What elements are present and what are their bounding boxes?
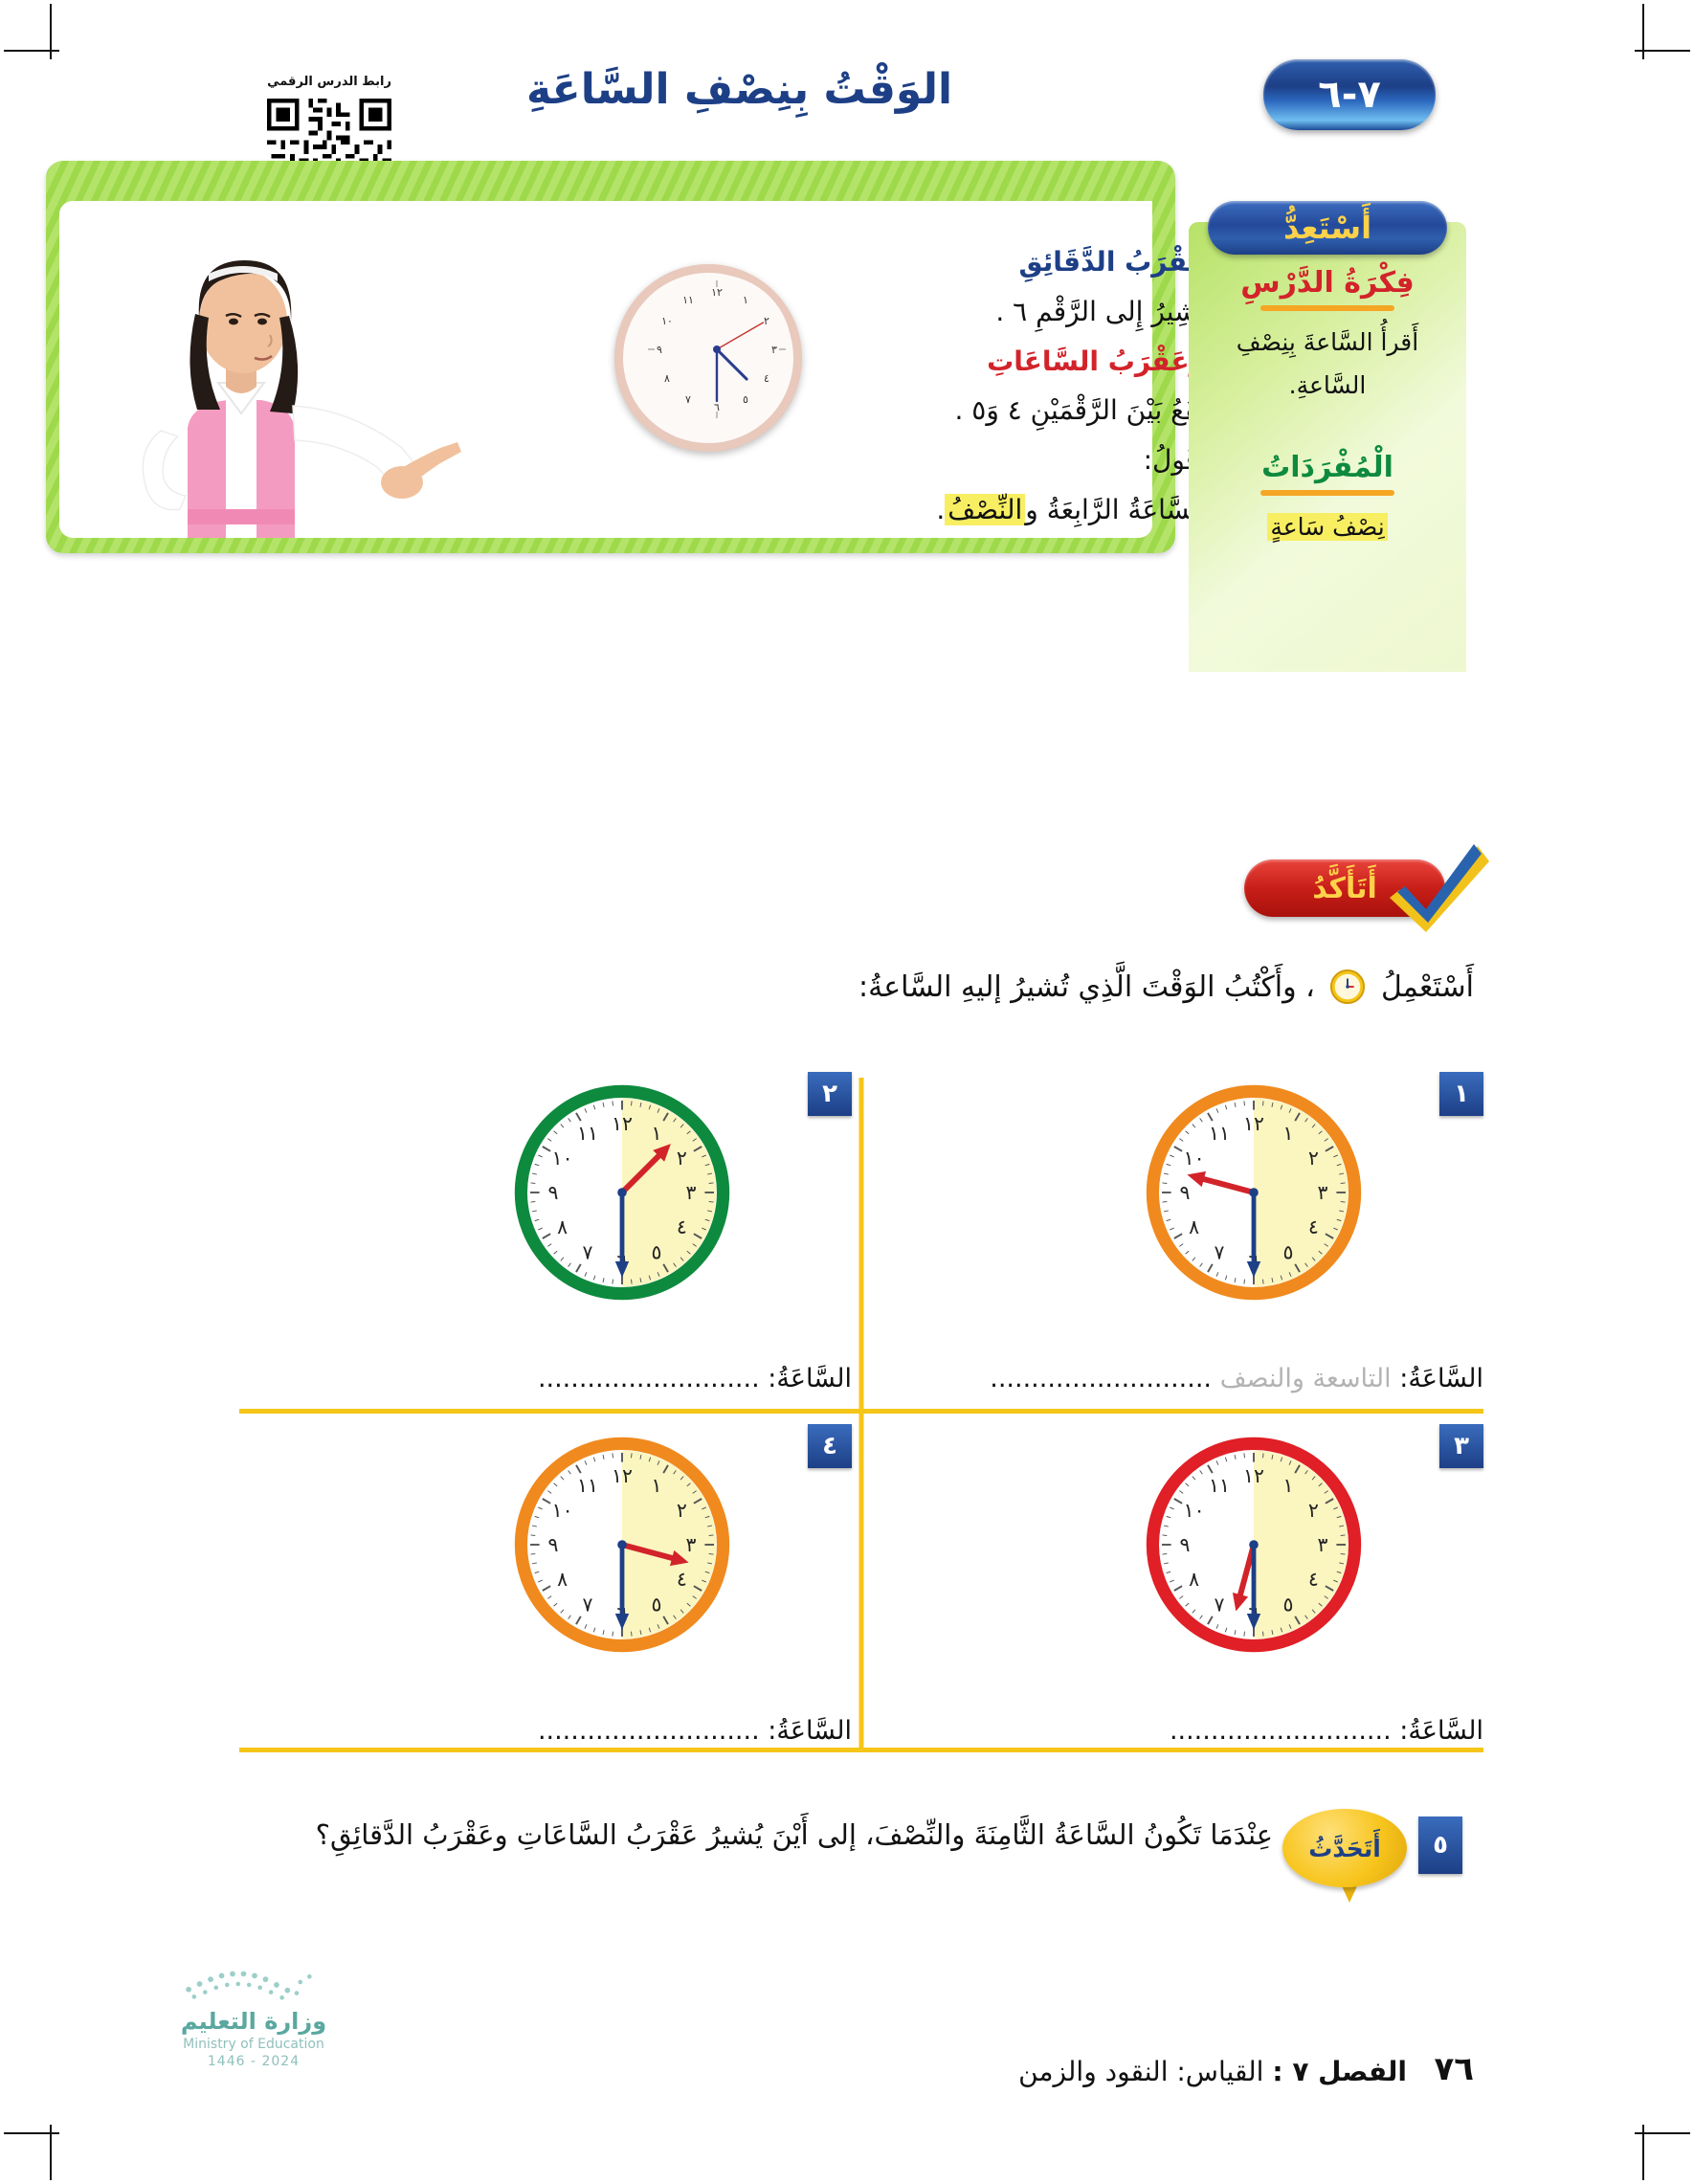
- svg-text:٥: ٥: [1283, 1241, 1294, 1264]
- svg-text:١٠: ١٠: [1184, 1499, 1205, 1522]
- answer-dots-1: ...........................: [990, 1364, 1212, 1393]
- svg-text:١٠: ١٠: [552, 1499, 573, 1522]
- svg-text:٢: ٢: [1308, 1147, 1319, 1170]
- svg-text:١٢: ١٢: [612, 1464, 633, 1487]
- intro-line-6-b: .: [936, 494, 945, 525]
- svg-text:٥: ٥: [652, 1241, 662, 1264]
- ministry-name-en: Ministry of Education: [144, 2037, 364, 2052]
- svg-text:٩: ٩: [548, 1181, 559, 1204]
- svg-text:٧: ٧: [1215, 1241, 1225, 1264]
- svg-text:٩: ٩: [657, 344, 662, 356]
- verify-instruction: أَسْتَعْمِلُ ، وأَكْتُبُ الوَقْتَ الَّذِ…: [220, 969, 1474, 1005]
- svg-text:٧: ٧: [583, 1593, 593, 1616]
- vocabulary-word: نِصْفُ سَاعةٍ: [1267, 513, 1387, 541]
- exercise-grid: ١ ١٢١٢٣٤٥٦٧٨٩١٠١١ السَّاعَةُ: التاسعة وا…: [239, 1072, 1483, 1751]
- intro-line-2: يُشِيرُ إِلى الرَّقْمِ ٦ .: [794, 287, 1206, 337]
- svg-text:١: ١: [1283, 1122, 1294, 1145]
- student-photo: [65, 222, 477, 538]
- ministry-logo: وزارة التعليم Ministry of Education 2024…: [144, 1962, 364, 2069]
- ministry-year: 2024 - 1446: [144, 2054, 364, 2069]
- svg-text:١٠: ١٠: [661, 315, 673, 327]
- answer-line-2[interactable]: السَّاعَةُ: ...........................: [258, 1364, 852, 1393]
- intro-text: عَقْرَبُ الدَّقَائِقِ يُشِيرُ إِلى الرَّ…: [794, 237, 1206, 535]
- lesson-number-badge: ٧-٦: [1263, 59, 1436, 130]
- svg-text:٨: ٨: [1189, 1568, 1199, 1591]
- vocabulary-rule: [1260, 490, 1394, 496]
- svg-text:٧: ٧: [685, 393, 691, 406]
- vocabulary-word-wrap: نِصْفُ سَاعةٍ: [1206, 505, 1449, 548]
- svg-text:١٢: ١٢: [612, 1112, 633, 1135]
- answer-value-1: التاسعة والنصف: [1220, 1364, 1392, 1393]
- intro-line-6: السَّاعَةُ الرَّابِعَةُ والنِّصْفُ.: [794, 485, 1206, 535]
- intro-line-6-highlight: النِّصْفُ: [945, 494, 1025, 525]
- intro-line-4: يَقَعُ بَيْنَ الرَّقْمَيْنِ ٤ وَ٥ .: [794, 386, 1206, 435]
- svg-text:١: ١: [652, 1122, 662, 1145]
- svg-text:٩: ٩: [1180, 1181, 1191, 1204]
- svg-text:١١: ١١: [682, 294, 694, 306]
- prepare-badge: أَسْتَعِدُّ: [1208, 201, 1447, 255]
- exercise-item-4: ٤ ١٢١٢٣٤٥٦٧٨٩١٠١١ السَّاعَةُ: ..........…: [239, 1424, 852, 1749]
- lesson-number-text: ٧-٦: [1318, 73, 1380, 117]
- intro-line-5: أَقُولُ:: [794, 435, 1206, 485]
- svg-text:١: ١: [1283, 1474, 1294, 1497]
- crop-mark-tr-h: [1635, 50, 1690, 52]
- svg-text:٢: ٢: [1308, 1499, 1319, 1522]
- answer-label-4: السَّاعَةُ:: [768, 1716, 852, 1746]
- answer-dots-3: ...........................: [1170, 1716, 1392, 1746]
- svg-text:٥: ٥: [743, 393, 748, 406]
- svg-text:٢: ٢: [677, 1499, 687, 1522]
- exercise-item-3: ٣ ١٢١٢٣٤٥٦٧٨٩١٠١١ السَّاعَةُ: ..........…: [871, 1424, 1483, 1749]
- svg-text:٩: ٩: [1180, 1533, 1191, 1556]
- exercise-number-1: ١: [1439, 1072, 1483, 1116]
- svg-text:٤: ٤: [677, 1568, 687, 1591]
- svg-text:٣: ٣: [1318, 1181, 1328, 1204]
- page-number: ٧٦: [1434, 2050, 1474, 2088]
- svg-text:١٠: ١٠: [552, 1147, 573, 1170]
- exercise-number-4: ٤: [808, 1424, 852, 1468]
- grid-divider-horizontal: [239, 1409, 1483, 1414]
- svg-text:٣: ٣: [686, 1181, 697, 1204]
- svg-text:٧: ٧: [1215, 1593, 1225, 1616]
- svg-text:٢: ٢: [764, 315, 769, 327]
- svg-text:١١: ١١: [577, 1474, 598, 1497]
- svg-text:٥: ٥: [652, 1593, 662, 1616]
- intro-line-6-a: السَّاعَةُ الرَّابِعَةُ و: [1025, 494, 1206, 525]
- svg-text:٩: ٩: [548, 1533, 559, 1556]
- exercise-item-2: ٢ ١٢١٢٣٤٥٦٧٨٩١٠١١ السَّاعَةُ: ..........…: [239, 1072, 852, 1397]
- exercise-number-5: ٥: [1418, 1816, 1462, 1874]
- svg-text:٨: ٨: [557, 1568, 568, 1591]
- svg-text:١١: ١١: [1209, 1122, 1230, 1145]
- chapter-label: الفصل ٧ : القياس: النقود والزمن: [1018, 2056, 1407, 2087]
- exercise-number-3: ٣: [1439, 1424, 1483, 1468]
- page-title: الوَقْتُ بِنِصْفِ السَّاعَةِ: [526, 65, 1273, 114]
- textbook-page: ٧-٦ الوَقْتُ بِنِصْفِ السَّاعَةِ رابط ال…: [0, 0, 1694, 2184]
- answer-line-3[interactable]: السَّاعَةُ: ...........................: [890, 1716, 1483, 1746]
- svg-text:٤: ٤: [1308, 1215, 1319, 1238]
- svg-text:٥: ٥: [1283, 1593, 1294, 1616]
- answer-line-4[interactable]: السَّاعَةُ: ...........................: [258, 1716, 852, 1746]
- prepare-badge-label: أَسْتَعِدُّ: [1283, 210, 1371, 246]
- clock-face-1[interactable]: ١٢١٢٣٤٥٦٧٨٩١٠١١: [1139, 1078, 1369, 1307]
- crop-mark-br-h: [1635, 2132, 1690, 2134]
- lesson-idea-heading: فِكْرَةُ الدَّرْسِ: [1206, 266, 1449, 300]
- ministry-emblem-icon: [172, 1962, 335, 2004]
- svg-text:٢: ٢: [677, 1147, 687, 1170]
- svg-text:٨: ٨: [664, 372, 670, 385]
- exercise-item-1: ١ ١٢١٢٣٤٥٦٧٨٩١٠١١ السَّاعَةُ: التاسعة وا…: [871, 1072, 1483, 1397]
- svg-text:٨: ٨: [557, 1215, 568, 1238]
- talk-badge: أَتَحَدَّثُ: [1282, 1809, 1407, 1887]
- chapter-label-bold: الفصل ٧ :: [1272, 2056, 1407, 2087]
- svg-text:٣: ٣: [686, 1533, 697, 1556]
- qr-label: رابط الدرس الرقمي: [245, 75, 413, 89]
- lesson-idea-rule: [1260, 305, 1394, 311]
- intro-line-1: عَقْرَبُ الدَّقَائِقِ: [794, 237, 1206, 287]
- verify-badge-label: أَتَأَكَّدُ: [1312, 872, 1377, 905]
- svg-text:١: ١: [743, 294, 748, 306]
- clock-face-3[interactable]: ١٢١٢٣٤٥٦٧٨٩١٠١١: [1139, 1430, 1369, 1660]
- svg-text:٣: ٣: [771, 344, 777, 356]
- prepare-sidebar: فِكْرَةُ الدَّرْسِ أَقرأُ السَّاعةَ بِنِ…: [1189, 222, 1466, 672]
- vocabulary-heading: الْمُفْرَدَاتُ: [1206, 451, 1449, 484]
- talk-question-text: عِنْدَمَا تَكُونُ السَّاعَةُ الثَّامِنَة…: [220, 1811, 1273, 1860]
- answer-label-2: السَّاعَةُ:: [768, 1364, 852, 1393]
- svg-text:١: ١: [652, 1474, 662, 1497]
- svg-text:١٠: ١٠: [1184, 1147, 1205, 1170]
- crop-mark-bl-h: [4, 2132, 59, 2134]
- clock-face-4[interactable]: ١٢١٢٣٤٥٦٧٨٩١٠١١: [507, 1430, 737, 1660]
- verify-instruction-b: ، وأَكْتُبُ الوَقْتَ الَّذِي تُشيرُ إليه…: [858, 970, 1315, 1004]
- answer-label-1: السَّاعَةُ:: [1399, 1364, 1483, 1393]
- svg-text:١٢: ١٢: [711, 286, 723, 299]
- answer-label-3: السَّاعَةُ:: [1399, 1716, 1483, 1746]
- svg-text:١١: ١١: [1209, 1474, 1230, 1497]
- svg-text:٨: ٨: [1189, 1215, 1199, 1238]
- verify-instruction-a: أَسْتَعْمِلُ: [1381, 970, 1474, 1004]
- svg-text:٣: ٣: [1318, 1533, 1328, 1556]
- lesson-idea-body: أَقرأُ السَّاعةَ بِنِصْفِ السَّاعةِ.: [1206, 321, 1449, 407]
- demo-wall-clock: ١٢١٢٣٤٥٦٧٨٩١٠١١: [614, 264, 802, 452]
- svg-text:١١: ١١: [577, 1122, 598, 1145]
- crop-mark-tl-h: [4, 50, 59, 52]
- svg-text:٤: ٤: [764, 372, 769, 385]
- svg-text:٧: ٧: [583, 1241, 593, 1264]
- svg-text:٤: ٤: [1308, 1568, 1319, 1591]
- clock-face-2[interactable]: ١٢١٢٣٤٥٦٧٨٩١٠١١: [507, 1078, 737, 1307]
- svg-text:١٢: ١٢: [1243, 1464, 1264, 1487]
- svg-text:١٢: ١٢: [1243, 1112, 1264, 1135]
- chapter-label-rest: القياس: النقود والزمن: [1018, 2056, 1263, 2087]
- talk-badge-label: أَتَحَدَّثُ: [1308, 1835, 1381, 1862]
- clock-inline-icon: [1329, 969, 1366, 1005]
- exercise-number-2: ٢: [808, 1072, 852, 1116]
- ministry-name-ar: وزارة التعليم: [144, 2008, 364, 2035]
- answer-dots-2: ...........................: [538, 1364, 760, 1393]
- intro-line-3: وَعَقْرَبُ السَّاعَاتِ: [794, 337, 1206, 387]
- answer-line-1[interactable]: السَّاعَةُ: التاسعة والنصف .............…: [890, 1364, 1483, 1393]
- checkmark-icon: [1386, 838, 1491, 934]
- answer-dots-4: ...........................: [538, 1716, 760, 1746]
- svg-text:٤: ٤: [677, 1215, 687, 1238]
